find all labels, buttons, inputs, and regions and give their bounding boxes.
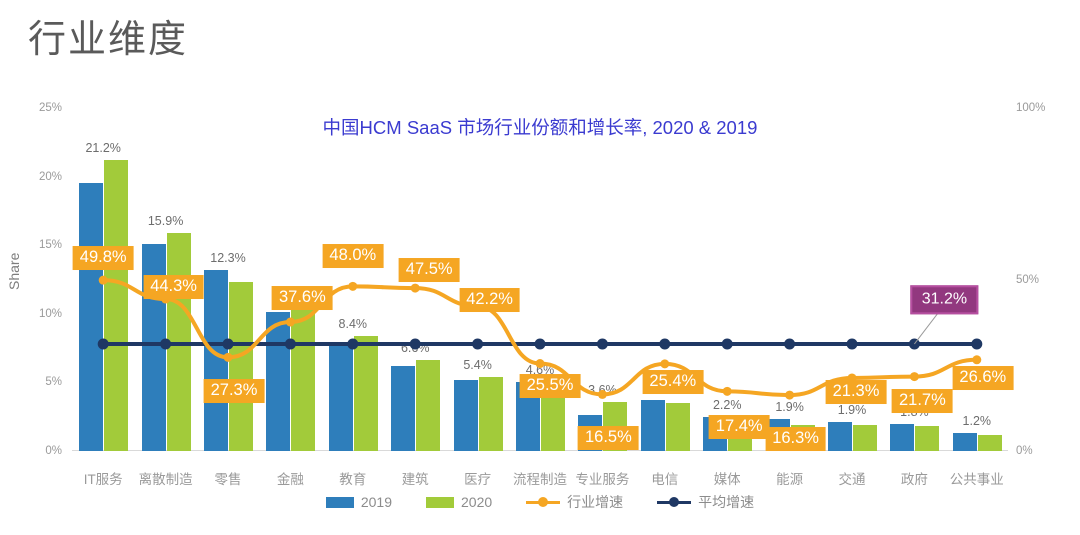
line-marker[interactable] [909,338,920,349]
y-axis-label: Share [6,253,22,290]
line-marker[interactable] [722,338,733,349]
line-marker[interactable] [910,372,919,381]
legend-swatch-line [526,496,560,508]
industry-growth-label: 21.3% [826,380,887,404]
line-marker[interactable] [347,338,358,349]
line-marker[interactable] [972,355,981,364]
x-tick-label: 流程制造 [513,468,567,488]
x-tick-label: 金融 [277,468,304,488]
legend-industry-growth[interactable]: 行业增速 [526,492,623,512]
plot-area: 0%5%10%15%20%25% 0%50%100% 21.2%15.9%12.… [72,108,1008,451]
x-tick-label: 专业服务 [575,468,629,488]
line-marker[interactable] [535,338,546,349]
x-tick-label: 离散制造 [139,468,193,488]
industry-growth-label: 25.5% [520,374,581,398]
x-tick-label: 电信 [651,468,678,488]
line-marker[interactable] [286,318,295,327]
line-marker[interactable] [847,338,858,349]
industry-growth-label: 48.0% [322,244,383,268]
line-marker[interactable] [160,338,171,349]
y-tick-left: 10% [20,308,62,320]
x-tick-label: 教育 [339,468,366,488]
slide-page: 行业维度 中国HCM SaaS 市场行业份额和增长率, 2020 & 2019 … [0,0,1080,535]
x-tick-label: 公共事业 [950,468,1004,488]
chart-legend: 20192020行业增速平均增速 [0,492,1080,512]
legend-2019[interactable]: 2019 [326,494,392,510]
line-marker[interactable] [660,359,669,368]
legend-label: 行业增速 [567,492,623,512]
average-growth-callout: 31.2% [911,285,978,314]
industry-growth-label: 42.2% [459,288,520,312]
line-marker[interactable] [98,338,109,349]
x-tick-label: 医疗 [464,468,491,488]
x-tick-label: 交通 [839,468,866,488]
legend-2020[interactable]: 2020 [426,494,492,510]
line-marker[interactable] [784,338,795,349]
line-marker[interactable] [971,338,982,349]
industry-growth-label: 25.4% [642,370,703,394]
y-tick-right: 50% [1016,274,1039,286]
industry-growth-label: 27.3% [204,379,265,403]
legend-swatch-bar [326,497,354,508]
legend-average-growth[interactable]: 平均增速 [657,492,754,512]
industry-growth-label: 26.6% [952,366,1013,390]
line-marker[interactable] [597,338,608,349]
legend-label: 平均增速 [698,492,754,512]
y-tick-right: 0% [1016,445,1033,457]
y-tick-right: 100% [1016,102,1045,114]
callout-leader-line [914,310,940,344]
line-marker[interactable] [659,338,670,349]
x-tick-label: 政府 [901,468,928,488]
legend-swatch-bar [426,497,454,508]
y-tick-left: 15% [20,239,62,251]
industry-growth-label: 37.6% [272,286,333,310]
y-tick-left: 5% [20,376,62,388]
industry-growth-label: 16.5% [578,426,639,450]
chart-container: 中国HCM SaaS 市场行业份额和增长率, 2020 & 2019 Share… [0,100,1080,535]
y-tick-left: 0% [20,445,62,457]
line-marker[interactable] [99,276,108,285]
line-marker[interactable] [723,387,732,396]
line-marker[interactable] [410,338,421,349]
legend-label: 2019 [361,494,392,510]
industry-growth-label: 47.5% [399,258,460,282]
x-tick-label: IT服务 [84,468,123,488]
page-title: 行业维度 [28,18,188,64]
line-marker[interactable] [224,353,233,362]
line-marker[interactable] [411,284,420,293]
y-tick-left: 20% [20,171,62,183]
line-marker[interactable] [285,338,296,349]
line-marker[interactable] [348,282,357,291]
x-tick-label: 媒体 [714,468,741,488]
industry-growth-label: 17.4% [709,415,770,439]
industry-growth-label: 16.3% [765,427,826,451]
industry-growth-label: 44.3% [143,275,204,299]
line-marker[interactable] [472,338,483,349]
x-tick-label: 零售 [215,468,242,488]
y-tick-left: 25% [20,102,62,114]
line-marker[interactable] [598,390,607,399]
legend-label: 2020 [461,494,492,510]
industry-growth-label: 49.8% [73,246,134,270]
line-marker[interactable] [536,359,545,368]
industry-growth-label: 21.7% [892,389,953,413]
x-tick-label: 建筑 [402,468,429,488]
line-marker[interactable] [785,391,794,400]
legend-swatch-line [657,496,691,508]
x-tick-label: 能源 [776,468,803,488]
line-marker[interactable] [223,338,234,349]
